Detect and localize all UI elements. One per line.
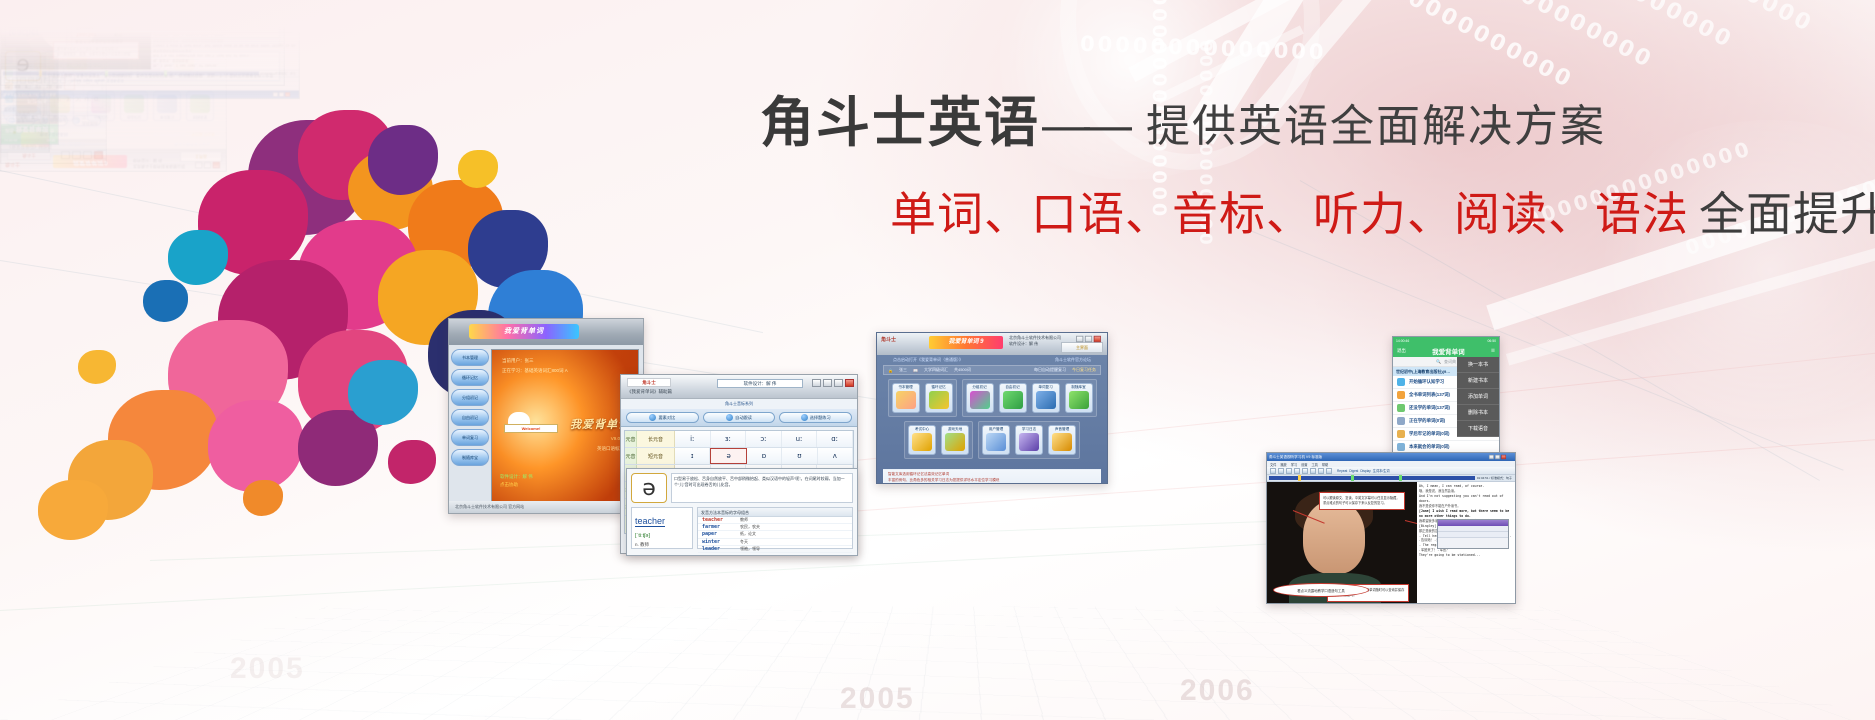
window4-notes: 智能文库选用循环记忆法高效记忆单词 丰富的例句、比角色多的相关学习日志为您提供详… xyxy=(883,469,1101,484)
list-item-meaning: 纸，论文 xyxy=(740,531,756,537)
link-open-standard[interactable]: 点击启动打开《我爱背单词（普通版）》 xyxy=(893,357,963,363)
software-window-welcome[interactable]: 我爱背单词 书本管理 循环记忆 分组初记 自由初记 单词复习 制随库宝 当前用户… xyxy=(448,318,644,514)
next-icon[interactable] xyxy=(1302,468,1308,474)
icon-label: 学习日志 xyxy=(1022,427,1036,432)
window1-ribbon: Welcome! xyxy=(504,424,558,433)
menu-study[interactable]: 学习 xyxy=(1291,462,1297,467)
list-item[interactable]: paper纸，论文 xyxy=(698,531,852,538)
word-count: 共4500词 xyxy=(954,367,971,373)
icon-label: 用户管理 xyxy=(989,427,1003,432)
menu-help[interactable]: 帮助 xyxy=(1322,462,1328,467)
window2-subtitle: 《我爱背单词》辅助篇 xyxy=(627,389,672,395)
review-icon xyxy=(1036,391,1056,409)
free-learn-icon xyxy=(1003,391,1023,409)
list-item-label: 全书单词列表(137词) xyxy=(1409,392,1450,398)
menu-icon-exam-center[interactable]: 考试中心 xyxy=(908,425,936,455)
banner-stage: 00000000000000 00000000000000 0000000000… xyxy=(0,0,1875,720)
list-item-word: farmer xyxy=(702,524,736,530)
icon-label: 考试中心 xyxy=(915,427,929,432)
word-ipa: [ˈtiːtʃə] xyxy=(635,533,689,539)
icon-group: 用户管理 学习日志 声音管理 xyxy=(978,421,1080,459)
icon-label: 声音管理 xyxy=(1055,427,1069,432)
sidebar-item-3[interactable]: 自由初记 xyxy=(451,409,489,426)
auto-remind-label[interactable]: 每日自动提醒复习 xyxy=(1034,367,1066,373)
word-list-header: 发音方法本音标的字母组合 xyxy=(698,508,852,517)
icon-label: 书本管理 xyxy=(898,385,912,390)
icon-group: 书本管理 循环记忆 xyxy=(888,379,957,417)
sidebar-item-2[interactable]: 分组初记 xyxy=(451,389,489,406)
list-item[interactable]: farmer农民，农夫 xyxy=(698,524,852,531)
window1-book-line: 正在学习：基础英语词汇800词 A xyxy=(502,368,568,374)
book-manage-icon xyxy=(896,391,916,409)
subtitle-line: They're going to be stationed... xyxy=(1419,553,1513,558)
phoneme-detail-bottom: teacher [ˈtiːtʃə] n. 教师 发音方法本音标的字母组合 tea… xyxy=(627,507,857,553)
tool-quiz-label: 选择题练习 xyxy=(810,415,831,421)
ipa-cell[interactable]: ʊ xyxy=(782,448,817,464)
ipa-cell[interactable]: ɪ xyxy=(675,448,710,464)
ipa-cell-selected[interactable]: ə xyxy=(710,448,746,464)
list-item-label: 本来就会的单词(0词) xyxy=(1409,444,1450,450)
window2-designer: 软件设计：解 伟 xyxy=(717,379,803,388)
toolbar-repeat-label[interactable]: Repeat xyxy=(1337,469,1347,473)
icon-label: 制随库宝 xyxy=(1071,385,1085,390)
year-mark: 2005 xyxy=(230,652,305,686)
marker[interactable] xyxy=(1399,475,1402,481)
window2-controls[interactable] xyxy=(812,379,854,387)
designer-name: 软件设计：解 伟 xyxy=(1009,341,1061,347)
row-cells: iː ɜː ɔː uː ɑː xyxy=(675,431,853,447)
window1-version: V9.0 xyxy=(611,436,620,441)
menu-icon-sound-manage[interactable]: 声音管理 xyxy=(1048,425,1076,455)
compare-icon xyxy=(649,414,656,421)
quiz-icon xyxy=(801,414,808,421)
menu-icon-free-learn[interactable]: 自由初记 xyxy=(999,383,1027,413)
mobile-appbar: 退出 我爱背单词 ☰ xyxy=(1393,344,1499,357)
icon-label: 游戏天地 xyxy=(948,427,962,432)
window4-title-art: 我爱背单词 9 xyxy=(929,336,1003,349)
toolbar-digest-label[interactable]: Digest xyxy=(1349,469,1358,473)
marker[interactable] xyxy=(1351,475,1354,481)
software-window-phoneme-detail[interactable]: ə 口型易于放松、舌身自然放平、舌中部稍微抬起、类似汉语中的轻声“呃”。在词尾时… xyxy=(626,468,858,556)
tool-quiz[interactable]: 选择题练习 xyxy=(779,412,852,423)
menu-item-add-word[interactable]: 添加单词 xyxy=(1457,389,1499,405)
window6-titlebar: 角斗士英语视听学习机 V9 标准版 xyxy=(1267,453,1515,461)
menu-item-change-book[interactable]: 换一本书 xyxy=(1457,357,1499,373)
current-book: 大学四级词汇 xyxy=(924,367,948,373)
list-item-meaning: 农民，农夫 xyxy=(740,524,760,530)
overflow-menu[interactable]: 换一本书 新建书本 添加单词 删除书本 下载语音 xyxy=(1457,357,1499,437)
phoneme-symbol: ə xyxy=(631,473,667,503)
learning-icon xyxy=(1397,417,1405,425)
menu-icon-mp3[interactable]: 制随库宝 xyxy=(1065,383,1093,413)
speaker-icon xyxy=(1052,433,1072,451)
ipa-cell[interactable]: ʌ xyxy=(818,448,853,464)
menu-icon-group-learn[interactable]: 分组初记 xyxy=(966,383,994,413)
sidebar-item-0[interactable]: 书本管理 xyxy=(451,349,489,366)
icon-group: 考试中心 游戏天地 xyxy=(904,421,973,459)
list-item-word: paper xyxy=(702,531,736,537)
row-group-label: 元音 xyxy=(625,448,637,464)
window1-stage: 当前用户：张三 正在学习：基础英语词汇800词 A Welcome! 我爱背单词… xyxy=(491,349,639,509)
window4-titlebar: 角斗士 我爱背单词 9 北京角斗士软件技术有限公司 软件设计：解 伟 主界面 xyxy=(877,333,1107,355)
game-icon xyxy=(945,433,965,451)
subtitle-line-current: [Jane] I wish I read more, but there see… xyxy=(1419,509,1513,519)
year-mark: 2006 xyxy=(1180,674,1255,708)
play-icon[interactable] xyxy=(1270,468,1276,474)
window4-controls[interactable] xyxy=(1076,336,1101,342)
icon-label: 分组初记 xyxy=(972,385,986,390)
pause-icon[interactable] xyxy=(1278,468,1284,474)
menu-play[interactable]: 播放 xyxy=(1280,462,1286,467)
back-button[interactable]: 退出 xyxy=(1397,348,1406,354)
icon-group: 分组初记 自由初记 单词复习 制随库宝 xyxy=(962,379,1097,417)
word-list[interactable]: 发音方法本音标的字母组合 teacher教师 farmer农民，农夫 paper… xyxy=(697,507,853,549)
tool-compare[interactable]: 要素对比 xyxy=(626,412,699,423)
menu-item-new-book[interactable]: 新建书本 xyxy=(1457,373,1499,389)
all-words-icon xyxy=(1397,391,1405,399)
ipa-cell[interactable]: iː xyxy=(675,431,711,447)
toolbar-vocab-label[interactable]: 生词本/生词 xyxy=(1373,468,1390,473)
word-card: teacher [ˈtiːtʃə] n. 教师 xyxy=(631,507,693,549)
window1-note-2: 点击协助 xyxy=(500,482,518,488)
group-learn-icon xyxy=(970,391,990,409)
list-item-word: winter xyxy=(702,539,736,545)
window1-titlebar: 我爱背单词 xyxy=(449,319,643,345)
year-mark: 2005 xyxy=(840,682,915,716)
menu-icon-study-log[interactable]: 学习日志 xyxy=(1015,425,1043,455)
subtitle-suffix: 全面提升 xyxy=(1699,188,1875,240)
headline-tagline: 提供英语全面解决方案 xyxy=(1146,90,1606,154)
menu-item-delete-book[interactable]: 删除书本 xyxy=(1457,405,1499,421)
phoneme-detail-top: ə 口型易于放松、舌身自然放平、舌中部稍微抬起、类似汉语中的轻声“呃”。在词尾时… xyxy=(627,469,857,507)
maximize-button[interactable] xyxy=(834,379,843,387)
list-item-label: 学后牢记的单词(0词) xyxy=(1409,431,1450,437)
window4-logo: 角斗士 xyxy=(881,336,896,343)
window1-logo: 我爱背单词 xyxy=(469,324,579,339)
table-row: 元音 长元音 iː ɜː ɔː uː ɑː xyxy=(625,431,853,448)
menu-settings[interactable]: 设置 xyxy=(1301,462,1307,467)
icon-label: 循环记忆 xyxy=(931,385,945,390)
menu-file[interactable]: 文件 xyxy=(1270,462,1276,467)
ipa-cell[interactable]: uː xyxy=(782,431,818,447)
search-icon: 🔍 xyxy=(1436,359,1441,364)
maximize-button[interactable] xyxy=(1085,336,1092,342)
known-icon xyxy=(1397,443,1405,451)
word-meaning: n. 教师 xyxy=(635,542,689,548)
icon-row-1: 书本管理 循环记忆 分组初记 自由初记 单词复习 制随库宝 xyxy=(885,379,1099,417)
page-title: 角斗士英语 —— 提供英语全面解决方案 xyxy=(760,78,1606,157)
list-item-meaning: 教师 xyxy=(740,517,748,523)
close-button[interactable] xyxy=(1501,455,1506,459)
loop-learn-icon xyxy=(1397,378,1405,386)
leader-line xyxy=(1405,520,1417,527)
window1-user-line: 当前用户：张三 xyxy=(502,358,534,364)
window1-note-1: 软件设计：解 伟 xyxy=(500,474,533,480)
list-item-label: 开始循环认知学习 xyxy=(1409,379,1444,385)
minimize-button[interactable] xyxy=(823,379,832,387)
loop-icon[interactable] xyxy=(1310,468,1316,474)
page-subtitle: 单词、口语、音标、听力、阅读、语法全面提升 xyxy=(890,178,1875,244)
icon-label: 单词复习 xyxy=(1038,385,1052,390)
window1-body: 书本管理 循环记忆 分组初记 自由初记 单词复习 制随库宝 当前用户：张三 正在… xyxy=(449,345,643,513)
tool-autoread[interactable]: 自动跟读 xyxy=(703,412,776,423)
icon-label: 自由初记 xyxy=(1005,385,1019,390)
list-item[interactable]: winter冬天 xyxy=(698,539,852,546)
window1-sidebar: 书本管理 循环记忆 分组初记 自由初记 单词复习 制随库宝 xyxy=(449,345,491,513)
row-cells: ɪ ə ɒ ʊ ʌ xyxy=(675,448,853,464)
search-placeholder: 查词典 xyxy=(1444,359,1456,365)
menu-icon-loop-memory[interactable]: 循环记忆 xyxy=(925,383,953,413)
row-label: 短元音 xyxy=(637,448,675,464)
dictionary-popup[interactable] xyxy=(1437,519,1509,549)
popup-entry xyxy=(1438,532,1508,538)
tool-autoread-label: 自动跟读 xyxy=(735,415,752,421)
unlearned-icon xyxy=(1397,404,1405,412)
list-item[interactable]: teacher教师 xyxy=(698,517,852,524)
window4-links[interactable]: 点击启动打开《我爱背单词（普通版）》 角斗士软件官方论坛 xyxy=(877,355,1107,365)
link-forum[interactable]: 角斗士软件官方论坛 xyxy=(1055,357,1091,363)
maximize-button[interactable] xyxy=(1495,455,1500,459)
video-caption: 看点义流露地教学口语造句工具 xyxy=(1273,583,1369,597)
ipa-cell[interactable]: ɑː xyxy=(817,431,853,447)
lock-icon: 🔒 xyxy=(888,368,893,373)
window2-titlebar: 角斗士 《我爱背单词》辅助篇 软件设计：解 伟 xyxy=(621,375,857,399)
status-right: 06:50 xyxy=(1488,339,1497,343)
close-button[interactable] xyxy=(1094,336,1101,342)
close-button[interactable] xyxy=(845,379,854,387)
software-window-main-menu[interactable]: 角斗士 我爱背单词 9 北京角斗士软件技术有限公司 软件设计：解 伟 主界面 点… xyxy=(876,332,1108,484)
window2-panel-title: 角斗士音标系列 xyxy=(621,399,857,409)
loop-memory-icon xyxy=(929,391,949,409)
volume-icon[interactable] xyxy=(1318,468,1324,474)
toolbar-display-label[interactable]: Display xyxy=(1360,469,1370,473)
window6-toolbar[interactable]: Repeat Digest Display 生词本/生词 xyxy=(1267,467,1515,475)
subtitle-features: 单词、口语、音标、听力、阅读、语法 xyxy=(890,188,1689,240)
table-row: 元音 短元音 ɪ ə ɒ ʊ ʌ xyxy=(625,448,853,465)
ipa-cell[interactable]: ɔː xyxy=(746,431,782,447)
menu-icon-user-manage[interactable]: 用户管理 xyxy=(982,425,1010,455)
list-item-label: 正在学的单词(0词) xyxy=(1409,418,1445,424)
tab-main[interactable]: 主界面 xyxy=(1061,342,1103,353)
scales-icon xyxy=(912,433,932,451)
app-title: 我爱背单词 xyxy=(1432,346,1465,356)
record-icon[interactable] xyxy=(1326,468,1332,474)
autoread-icon xyxy=(726,414,733,421)
software-window-video-player[interactable]: 角斗士英语视听学习机 V9 标准版 文件 播放 学习 设置 工具 帮助 Repe… xyxy=(1266,452,1516,604)
window4-statusbar: 🔒 张三 📖 大学四级词汇 共4500词 每日自动提醒复习 今日复习任务 xyxy=(883,365,1101,375)
list-item-meaning: 冬天 xyxy=(740,539,748,545)
sidebar-item-4[interactable]: 单词复习 xyxy=(451,429,489,446)
phoneme-description: 口型易于放松、舌身自然放平、舌中部稍微抬起、类似汉语中的轻声“呃”。在词尾时较弱… xyxy=(671,473,853,503)
callout-top: 可以跟读原文、复读，中英文字幕可以任意显示隐藏，重点难点的句子可以保存下来以反复… xyxy=(1319,492,1405,510)
headline-dash: —— xyxy=(1042,98,1126,153)
review-link[interactable]: 今日复习任务 xyxy=(1072,367,1096,373)
pencil-icon xyxy=(1019,433,1039,451)
progress-track[interactable] xyxy=(1269,476,1475,480)
video-surface[interactable]: 可以跟读原文、复读，中英文字幕可以任意显示隐藏，重点难点的句子可以保存下来以反复… xyxy=(1267,482,1417,603)
marker[interactable] xyxy=(1298,475,1301,481)
window6-body: 可以跟读原文、复读，中英文字幕可以任意显示隐藏，重点难点的句子可以保存下来以反复… xyxy=(1267,482,1515,603)
menu-item-download-audio[interactable]: 下载语音 xyxy=(1457,421,1499,437)
row-group-label: 元音 xyxy=(625,431,637,447)
seek-bar[interactable]: 01:04:51 / 标准模式：句子 xyxy=(1267,475,1515,482)
sidebar-item-1[interactable]: 循环记忆 xyxy=(451,369,489,386)
list-item-meaning: 领袖，领导 xyxy=(740,546,760,552)
subtitle-line: And I'm not suggesting you can't read ou… xyxy=(1419,494,1513,504)
menu-tools[interactable]: 工具 xyxy=(1312,462,1318,467)
icon-row-2: 考试中心 游戏天地 用户管理 学习日志 声音管理 xyxy=(885,421,1099,459)
stop-icon[interactable] xyxy=(1286,468,1292,474)
current-user: 张三 xyxy=(899,367,907,373)
help-button[interactable] xyxy=(812,379,821,387)
ipa-cell[interactable]: ɒ xyxy=(747,448,782,464)
window6-title: 角斗士英语视听学习机 V9 标准版 xyxy=(1269,455,1482,460)
menu-icon-review[interactable]: 单词复习 xyxy=(1032,383,1060,413)
mastered-icon xyxy=(1397,430,1405,438)
window6-controls[interactable] xyxy=(1489,455,1506,459)
headline-brand: 角斗士英语 xyxy=(760,78,1040,157)
row-label: 长元音 xyxy=(637,431,675,447)
menu-icon-book-manage[interactable]: 书本管理 xyxy=(892,383,920,413)
sidebar-item-5[interactable]: 制随库宝 xyxy=(451,449,489,466)
window4-company: 北京角斗士软件技术有限公司 软件设计：解 伟 xyxy=(1009,335,1061,347)
window4-icon-grid[interactable]: 书本管理 循环记忆 分组初记 自由初记 单词复习 制随库宝 考试中心 游戏天地 … xyxy=(877,375,1107,467)
status-left: 14:00:46 xyxy=(1396,339,1409,343)
video-frame-face xyxy=(1303,500,1365,574)
minimize-button[interactable] xyxy=(1076,336,1083,342)
note-line: 可以和《我爱背单词（安卓版）》配合使用——手机、电脑同步背单词！ xyxy=(888,483,1096,484)
list-item-word: leader xyxy=(702,546,736,552)
book-icon: 📖 xyxy=(913,368,918,373)
mobile-statusbar: 14:00:46 06:50 xyxy=(1393,337,1499,344)
tool-compare-label: 要素对比 xyxy=(658,415,675,421)
list-item-word: teacher xyxy=(702,517,736,523)
hamburger-icon[interactable]: ☰ xyxy=(1491,348,1495,354)
window2-toolbar[interactable]: 要素对比 自动跟读 选择题练习 xyxy=(621,409,857,427)
word-headword: teacher xyxy=(635,516,665,527)
minimize-button[interactable] xyxy=(1489,455,1494,459)
users-icon xyxy=(986,433,1006,451)
mp3-icon xyxy=(1069,391,1089,409)
playback-status: 01:04:51 / 标准模式：句子 xyxy=(1477,476,1515,480)
window1-footer: 北京角斗士软件技术有限公司 官方网站 xyxy=(449,501,643,513)
window2-logo: 角斗士 xyxy=(627,378,671,387)
prev-icon[interactable] xyxy=(1294,468,1300,474)
list-item[interactable]: leader领袖，领导 xyxy=(698,546,852,553)
list-item-label: 还没学的单词(137词) xyxy=(1409,405,1450,411)
menu-icon-games[interactable]: 游戏天地 xyxy=(941,425,969,455)
ipa-cell[interactable]: ɜː xyxy=(711,431,747,447)
